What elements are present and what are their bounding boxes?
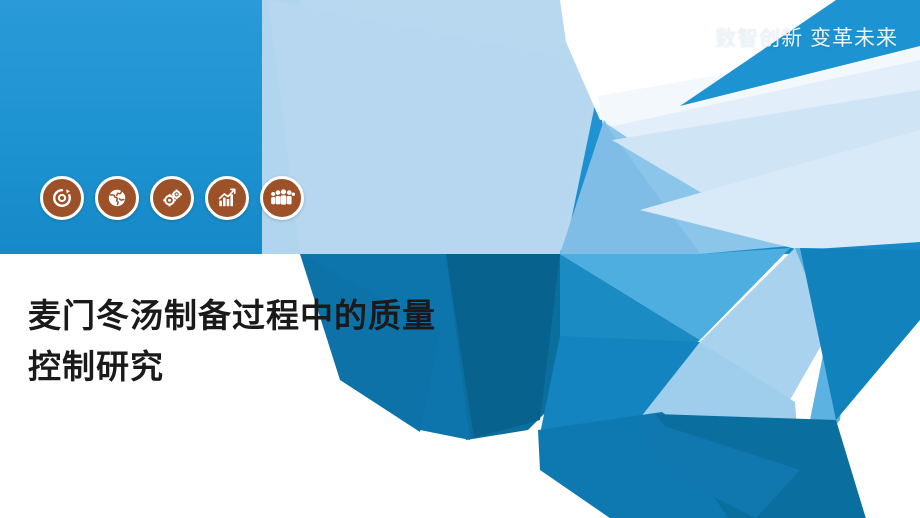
slide-canvas: 数智创新 变革未来 — [0, 0, 920, 518]
icon-strip — [40, 176, 304, 220]
gears-icon[interactable] — [150, 176, 194, 220]
target-arrow-icon[interactable] — [40, 176, 84, 220]
slide-title: 麦门冬汤制备过程中的质量 控制研究 — [28, 290, 568, 392]
bar-chart-icon[interactable] — [205, 176, 249, 220]
title-line-2: 控制研究 — [28, 341, 568, 392]
title-line-1: 麦门冬汤制备过程中的质量 — [28, 290, 568, 341]
polygon-background-art — [0, 0, 920, 518]
tagline-text: 数智创新 变革未来 — [715, 26, 898, 51]
people-group-icon[interactable] — [260, 176, 304, 220]
globe-icon[interactable] — [95, 176, 139, 220]
